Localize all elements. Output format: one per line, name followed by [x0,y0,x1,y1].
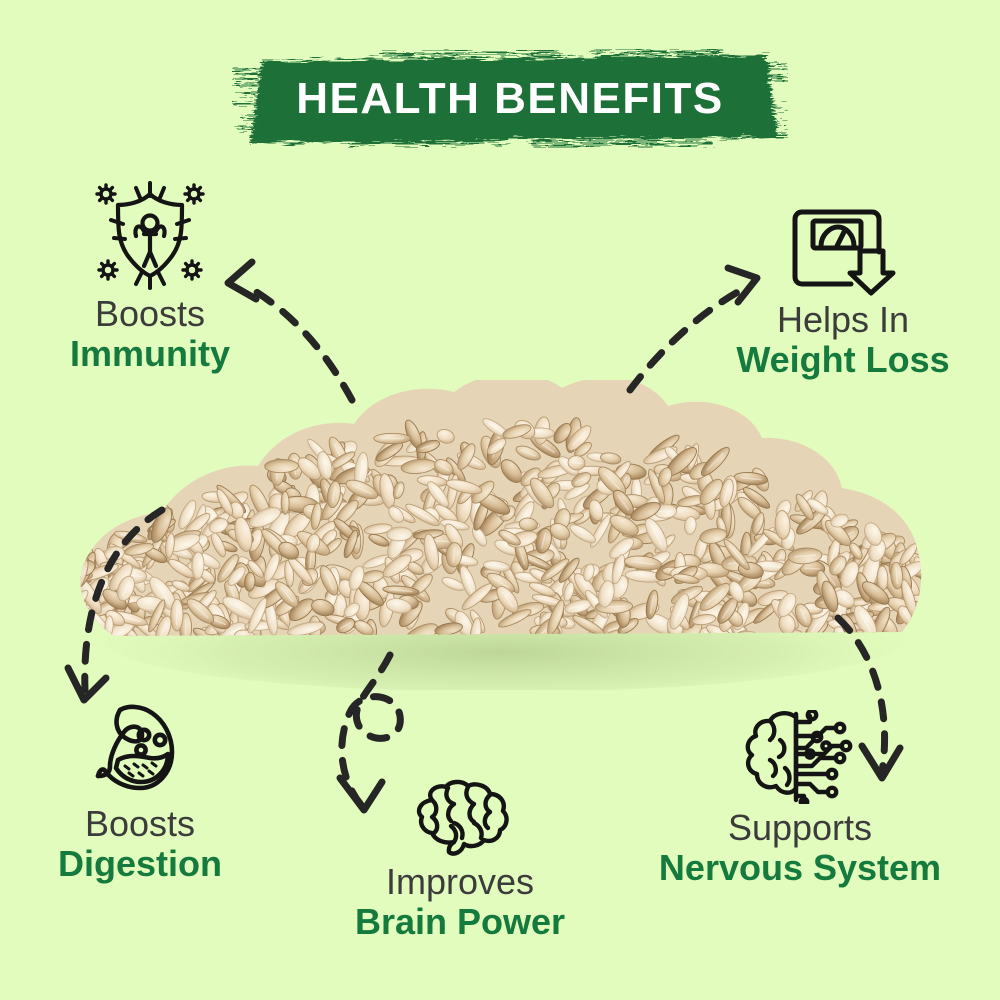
weighing-scale-down-arrow-icon [718,196,968,296]
benefit-brain-power: Improves Brain Power [330,778,590,943]
benefit-weight-loss: Helps In Weight Loss [718,196,968,381]
sunflower-seeds-image [62,340,942,690]
benefit-brain-power-line1: Improves [330,862,590,902]
benefit-digestion-line1: Boosts [20,804,260,844]
page-title: HEALTH BENEFITS [232,47,788,151]
benefit-weight-loss-line1: Helps In [718,300,968,340]
benefit-digestion: Boosts Digestion [20,700,260,885]
benefit-immunity: Boosts Immunity [30,172,270,375]
benefit-digestion-line2: Digestion [20,844,260,884]
benefit-immunity-line1: Boosts [30,294,270,334]
stomach-icon [20,700,260,800]
shield-immunity-icon [30,172,270,290]
brain-icon [330,778,590,858]
benefit-nervous-system-line2: Nervous System [640,848,960,888]
benefit-nervous-system-line1: Supports [640,808,960,848]
benefit-weight-loss-line2: Weight Loss [718,340,968,380]
benefit-nervous-system: Supports Nervous System [640,710,960,889]
benefit-immunity-line2: Immunity [30,334,270,374]
seed-pile [62,380,942,658]
infographic-canvas: HEALTH BENEFITS [0,0,1000,1000]
title-banner: HEALTH BENEFITS [232,47,788,151]
brain-circuit-icon [640,710,960,804]
benefit-brain-power-line2: Brain Power [330,902,590,942]
